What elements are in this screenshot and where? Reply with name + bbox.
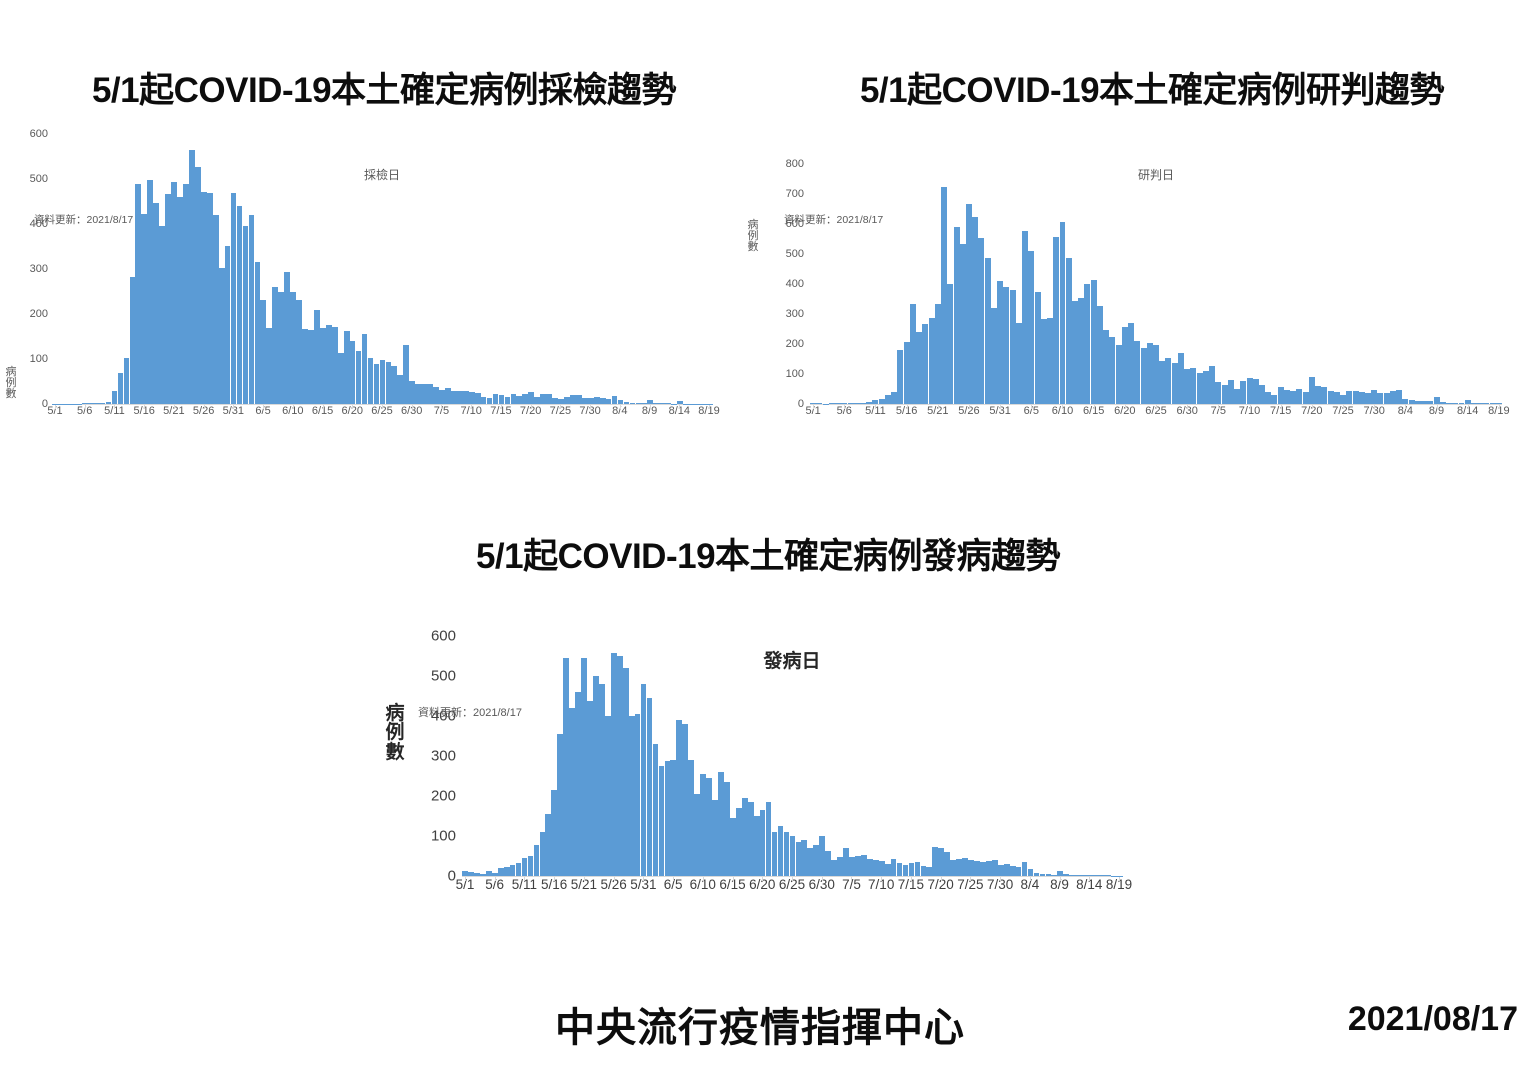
bar (641, 684, 647, 876)
bar (624, 402, 630, 404)
x-axis-label-determination: 研判日 (810, 166, 1502, 183)
chart-title-sampling: 5/1起COVID-19本土確定病例採檢趨勢 (0, 62, 768, 113)
bar (1035, 292, 1041, 404)
bar (1259, 385, 1265, 404)
bar (866, 402, 872, 404)
bar (451, 391, 457, 405)
bar (516, 396, 522, 404)
x-tick-mark (85, 405, 86, 409)
x-tick-mark (1250, 405, 1251, 409)
bar (938, 848, 944, 876)
bar (730, 818, 736, 876)
bar (665, 403, 671, 404)
bar (1016, 867, 1022, 876)
y-axis-ticks-sampling: 600 500 400 300 200 100 0 (0, 122, 48, 402)
bar (766, 802, 772, 876)
bar (1072, 301, 1078, 404)
bar (1490, 403, 1496, 404)
x-tick-mark (844, 405, 845, 409)
y-tick-700: 700 (786, 188, 804, 200)
bar (712, 800, 718, 876)
x-tick-mark (881, 877, 882, 881)
x-tick-mark (1156, 405, 1157, 409)
x-tick-mark (703, 877, 704, 881)
y-tick-500: 500 (431, 668, 456, 685)
slide-page: 5/1起COVID-19本土確定病例採檢趨勢 病 例 數 600 500 400… (0, 0, 1536, 1086)
x-tick-mark (1374, 405, 1375, 409)
x-axis-ticks-determination: 5/15/65/115/165/215/265/316/56/106/156/2… (810, 405, 1502, 429)
bar (391, 366, 397, 404)
bar (1022, 862, 1028, 876)
bar (960, 244, 966, 405)
chart-panel-sampling: 5/1起COVID-19本土確定病例採檢趨勢 病 例 數 600 500 400… (0, 62, 768, 482)
y-tick-500: 500 (30, 173, 48, 185)
x-tick-mark (1031, 405, 1032, 409)
bar (1184, 369, 1190, 404)
x-tick-mark (1030, 877, 1031, 881)
bar (94, 403, 100, 404)
y-tick-200: 200 (786, 338, 804, 350)
x-tick-mark (323, 405, 324, 409)
bar (972, 217, 978, 404)
bar (922, 324, 928, 404)
bar (605, 716, 611, 876)
bar (1371, 390, 1377, 404)
bar (677, 401, 683, 404)
y-tick-300: 300 (30, 263, 48, 275)
bar (534, 845, 540, 876)
bar (978, 238, 984, 405)
bar (1034, 873, 1040, 876)
x-tick-mark (1312, 405, 1313, 409)
bar (968, 860, 974, 876)
bar (962, 858, 968, 876)
bar (1028, 869, 1034, 876)
bar (688, 760, 694, 876)
bar (177, 197, 183, 404)
bar (1390, 391, 1396, 404)
bar (588, 398, 594, 404)
bar (540, 832, 546, 876)
x-tick-mark (1499, 405, 1500, 409)
bar (954, 227, 960, 404)
bar (528, 856, 534, 876)
x-tick-mark (762, 877, 763, 881)
bar (486, 871, 492, 876)
y-tick-100: 100 (786, 368, 804, 380)
bar (124, 358, 130, 404)
bar (1440, 402, 1446, 404)
bar (611, 653, 617, 876)
bar (1165, 358, 1171, 404)
bar (1066, 258, 1072, 404)
bar (545, 814, 551, 876)
bar (861, 855, 867, 876)
x-tick-mark (501, 405, 502, 409)
x-tick-mark (620, 405, 621, 409)
bar (386, 362, 392, 404)
bar (1010, 290, 1016, 404)
bar (1222, 385, 1228, 404)
bar (82, 403, 88, 404)
bar (498, 868, 504, 876)
bar (1060, 222, 1066, 404)
bar (516, 863, 522, 876)
bar (772, 832, 778, 876)
x-tick-mark (1187, 405, 1188, 409)
x-tick-mark (584, 877, 585, 881)
bar (557, 734, 563, 876)
bar (552, 398, 558, 404)
bar (564, 397, 570, 404)
bar (974, 861, 980, 876)
y-tick-0: 0 (798, 398, 804, 410)
bar (885, 395, 891, 404)
bar (941, 187, 947, 404)
y-tick-300: 300 (786, 308, 804, 320)
bar (1051, 875, 1057, 876)
bar (1022, 231, 1028, 404)
bar (1415, 401, 1421, 404)
bar (581, 658, 587, 876)
bar (338, 353, 344, 404)
bar (130, 277, 136, 404)
bar (929, 318, 935, 404)
bar (618, 400, 624, 404)
bar (1057, 871, 1063, 876)
bar (872, 400, 878, 404)
bar (570, 395, 576, 404)
bar (909, 863, 915, 876)
x-tick-mark (911, 877, 912, 881)
x-axis-ticks-sampling: 5/15/65/115/165/215/265/316/56/106/156/2… (52, 405, 712, 429)
bar (612, 396, 618, 404)
x-tick-mark (1437, 405, 1438, 409)
bar (135, 184, 141, 404)
bar (189, 150, 195, 404)
bar (469, 392, 475, 404)
data-update-note-onset: 資料更新：2021/8/17 (418, 704, 522, 720)
bar (1147, 343, 1153, 405)
bar (356, 351, 362, 404)
bar (302, 329, 308, 404)
x-tick-mark (1119, 877, 1120, 881)
bar (935, 304, 941, 404)
bar (790, 836, 796, 876)
bar (582, 398, 588, 404)
bar (278, 292, 284, 405)
bar (249, 215, 255, 404)
bar (1084, 284, 1090, 404)
bar (1040, 874, 1046, 876)
bar (956, 859, 962, 876)
bar (183, 184, 189, 405)
bar (344, 331, 350, 404)
bar (891, 859, 897, 876)
bar (647, 698, 653, 876)
bar (332, 327, 338, 404)
bar (439, 390, 445, 404)
x-tick-mark (1000, 405, 1001, 409)
bar (813, 845, 819, 876)
bar (1099, 875, 1105, 876)
bar (921, 866, 927, 876)
bar (481, 397, 487, 404)
bar (326, 325, 332, 404)
bar (308, 330, 314, 404)
bar (841, 403, 847, 404)
x-tick-mark (293, 405, 294, 409)
bar (1471, 403, 1477, 404)
bar (676, 720, 682, 876)
bar (522, 394, 528, 404)
bar (1271, 395, 1277, 404)
bar (718, 772, 724, 876)
bar (1334, 392, 1340, 404)
bar (511, 394, 517, 404)
bar (492, 873, 498, 876)
y-axis-ticks-determination: 800 700 600 500 400 300 200 100 0 (760, 122, 804, 412)
bar (1483, 403, 1489, 404)
bar (997, 281, 1003, 404)
bar (1203, 371, 1209, 404)
bar (1116, 345, 1122, 404)
bar (1190, 368, 1196, 404)
bar (195, 167, 201, 404)
x-tick-mark (907, 405, 908, 409)
x-tick-mark (352, 405, 353, 409)
bar (171, 182, 177, 404)
bar (1377, 393, 1383, 404)
bar (1434, 397, 1440, 404)
bar (810, 403, 816, 404)
x-tick-mark (1343, 405, 1344, 409)
bar (575, 692, 581, 876)
bar (910, 304, 916, 404)
bar (1303, 392, 1309, 404)
x-tick-mark (55, 405, 56, 409)
bar (694, 794, 700, 876)
x-tick-mark (441, 405, 442, 409)
bar (630, 403, 636, 404)
bar (1159, 361, 1165, 405)
bar (493, 394, 499, 404)
bar (522, 858, 528, 876)
bar (635, 714, 641, 876)
y-tick-600: 600 (30, 128, 48, 140)
bar (623, 668, 629, 876)
bar (1446, 403, 1452, 405)
bar (1353, 391, 1359, 404)
y-axis-ticks-onset: 600 500 400 300 200 100 0 (396, 618, 456, 878)
bar (659, 403, 665, 404)
bar (1384, 393, 1390, 404)
y-tick-300: 300 (431, 748, 456, 765)
bar (1477, 403, 1483, 404)
bar (1278, 387, 1284, 404)
bar (546, 394, 552, 404)
bar (992, 860, 998, 876)
bar (754, 816, 760, 876)
bar (801, 840, 807, 876)
footer-organization: 中央流行疫情指揮中心 (555, 995, 965, 1053)
bar (415, 384, 421, 404)
bar (272, 287, 278, 404)
bar (1197, 373, 1203, 405)
bar (534, 397, 540, 404)
bar (950, 860, 956, 876)
bar (724, 782, 730, 876)
bar (1346, 391, 1352, 404)
bar (1097, 306, 1103, 404)
bar (1004, 864, 1010, 876)
bar (320, 328, 326, 405)
y-tick-500: 500 (786, 248, 804, 260)
x-tick-mark (941, 877, 942, 881)
bar (510, 865, 516, 876)
bar (1075, 875, 1081, 876)
bar (231, 193, 237, 404)
bar (243, 226, 249, 404)
bar (540, 394, 546, 404)
y-tick-100: 100 (30, 353, 48, 365)
bar (1253, 379, 1259, 404)
bar (1365, 393, 1371, 404)
bar (985, 258, 991, 404)
bar (457, 391, 463, 404)
bar (284, 272, 290, 404)
bar (1010, 866, 1016, 876)
bar (558, 399, 564, 404)
x-tick-mark (531, 405, 532, 409)
bar (1427, 401, 1433, 404)
bar (1087, 875, 1093, 876)
bar (260, 300, 266, 404)
bar (1421, 401, 1427, 404)
bar (1091, 280, 1097, 404)
bar (463, 391, 469, 405)
bar (468, 872, 474, 876)
x-tick-mark (1000, 877, 1001, 881)
bar (1069, 875, 1075, 876)
x-tick-mark (590, 405, 591, 409)
bar (682, 724, 688, 876)
bar (617, 656, 623, 876)
bar (528, 392, 534, 404)
bar (1459, 403, 1465, 404)
bar (629, 716, 635, 876)
x-tick-mark (679, 405, 680, 409)
bar (207, 193, 213, 405)
bar (314, 310, 320, 404)
bar (1409, 400, 1415, 404)
bar (551, 790, 557, 876)
bar (1296, 389, 1302, 404)
bar (1340, 395, 1346, 404)
bar (867, 859, 873, 876)
x-tick-mark (382, 405, 383, 409)
bar (255, 262, 261, 404)
bar (736, 808, 742, 876)
bar (1016, 323, 1022, 404)
bar (904, 342, 910, 404)
x-tick-mark (1062, 405, 1063, 409)
x-tick-mark (495, 877, 496, 881)
x-tick-mark (524, 877, 525, 881)
y-tick-800: 800 (786, 158, 804, 170)
bar (1109, 337, 1115, 404)
bar (706, 778, 712, 876)
bar (1465, 400, 1471, 404)
bar (480, 874, 486, 876)
bar (380, 360, 386, 404)
bar (1103, 330, 1109, 404)
x-tick-mark (733, 877, 734, 881)
x-tick-mark (1089, 877, 1090, 881)
bar (100, 403, 106, 404)
x-axis-label-onset: 發病日 (462, 646, 1122, 673)
chart-panel-onset: 5/1起COVID-19本土確定病例發病趨勢 病 例 數 600 500 400… (384, 528, 1152, 968)
bar (1141, 348, 1147, 404)
x-tick-mark (204, 405, 205, 409)
bar (225, 246, 231, 404)
bar (403, 345, 409, 404)
bar (1309, 377, 1315, 404)
bar (837, 857, 843, 876)
bar (1078, 298, 1084, 404)
bar (445, 388, 451, 404)
bar (409, 381, 415, 404)
bar (879, 861, 885, 876)
bar (807, 848, 813, 876)
bar (991, 308, 997, 404)
bar (505, 397, 511, 404)
bar (835, 403, 841, 404)
bar (653, 403, 659, 404)
bar (1228, 380, 1234, 404)
x-tick-mark (233, 405, 234, 409)
bar (980, 862, 986, 876)
bar (670, 760, 676, 876)
x-axis-ticks-onset: 5/15/65/115/165/215/265/316/56/106/156/2… (462, 877, 1122, 903)
bar (1093, 875, 1099, 876)
bar (843, 848, 849, 876)
bar (848, 403, 854, 404)
x-tick-mark (851, 877, 852, 881)
bar (563, 658, 569, 876)
bar (1081, 875, 1087, 876)
y-tick-200: 200 (30, 308, 48, 320)
chart-title-determination: 5/1起COVID-19本土確定病例研判趨勢 (768, 62, 1536, 113)
x-tick-mark (792, 877, 793, 881)
bar (825, 851, 831, 876)
bar (368, 358, 374, 404)
footer-date: 2021/08/17 (1348, 1000, 1518, 1039)
chart-area-sampling: 病 例 數 600 500 400 300 200 100 0 5/15/65/… (0, 122, 768, 482)
bar (1284, 390, 1290, 404)
bar (700, 774, 706, 876)
bar (362, 334, 368, 404)
bar (947, 284, 953, 404)
x-tick-mark (673, 877, 674, 881)
bar (237, 206, 243, 404)
x-tick-mark (938, 405, 939, 409)
x-tick-mark (709, 405, 710, 409)
bar (165, 194, 171, 404)
bar (1247, 378, 1253, 404)
bar (1028, 251, 1034, 404)
y-tick-600: 600 (431, 628, 456, 645)
